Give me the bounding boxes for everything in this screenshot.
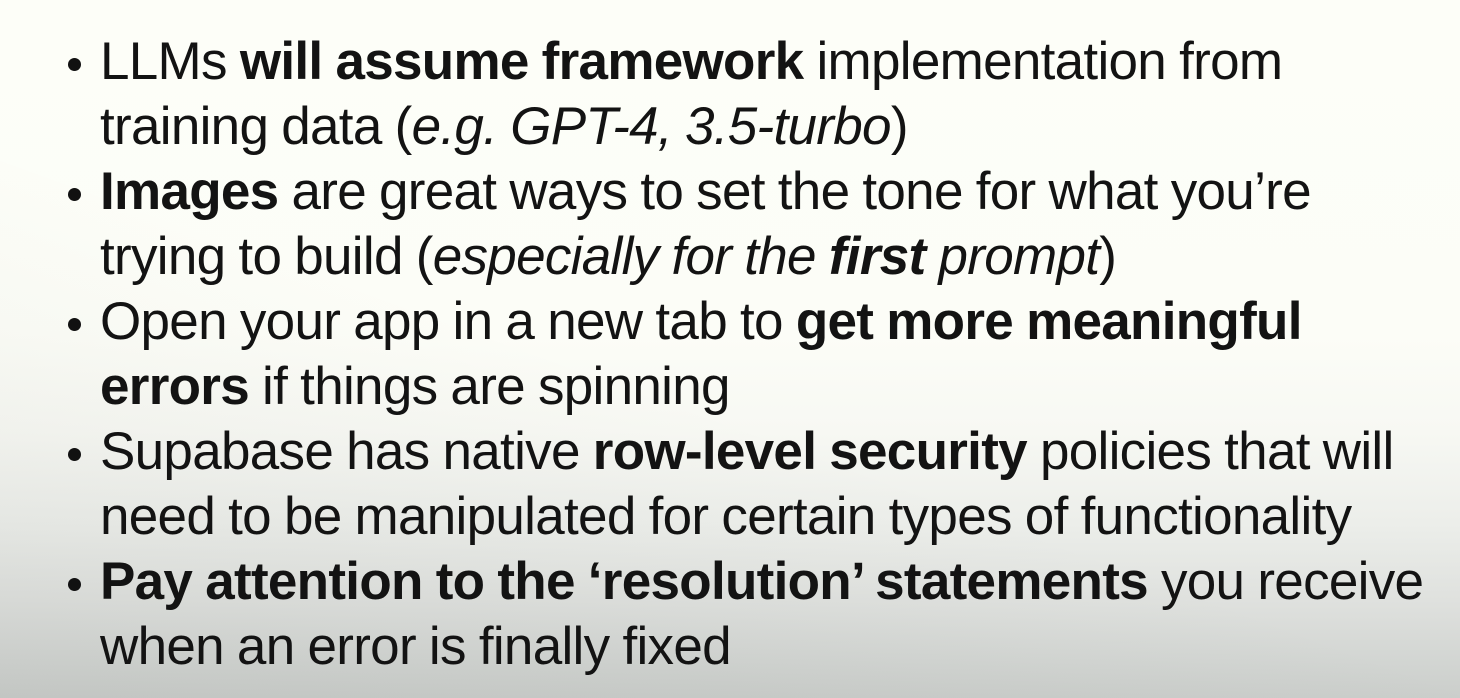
text-run: first: [829, 227, 926, 286]
bullet-item-supabase-row-level-security: Supabase has native row-level security p…: [62, 420, 1442, 549]
bullet-list: LLMs will assume framework implementatio…: [0, 0, 1460, 679]
text-run: especially for the: [433, 227, 829, 286]
text-run: will assume framework: [240, 32, 804, 91]
text-run: e.g. GPT-4, 3.5-turbo: [412, 97, 891, 156]
text-run: Pay attention to the ‘resolution’ statem…: [100, 552, 1148, 611]
bullet-item-llm-framework-assumption: LLMs will assume framework implementatio…: [62, 30, 1442, 159]
text-run: LLMs: [100, 32, 240, 91]
bullet-item-images-set-tone: Images are great ways to set the tone fo…: [62, 160, 1442, 289]
presentation-slide: LLMs will assume framework implementatio…: [0, 0, 1460, 698]
bullet-item-open-app-new-tab: Open your app in a new tab to get more m…: [62, 290, 1442, 419]
text-run: row-level security: [593, 422, 1027, 481]
text-run: if things are spinning: [249, 357, 730, 416]
text-run: Images: [100, 162, 278, 221]
text-run: prompt: [926, 227, 1100, 286]
text-run: Supabase has native: [100, 422, 593, 481]
bullet-item-resolution-statements: Pay attention to the ‘resolution’ statem…: [62, 550, 1442, 679]
text-run: ): [891, 97, 908, 156]
text-run: ): [1099, 227, 1116, 286]
text-run: Open your app in a new tab to: [100, 292, 796, 351]
